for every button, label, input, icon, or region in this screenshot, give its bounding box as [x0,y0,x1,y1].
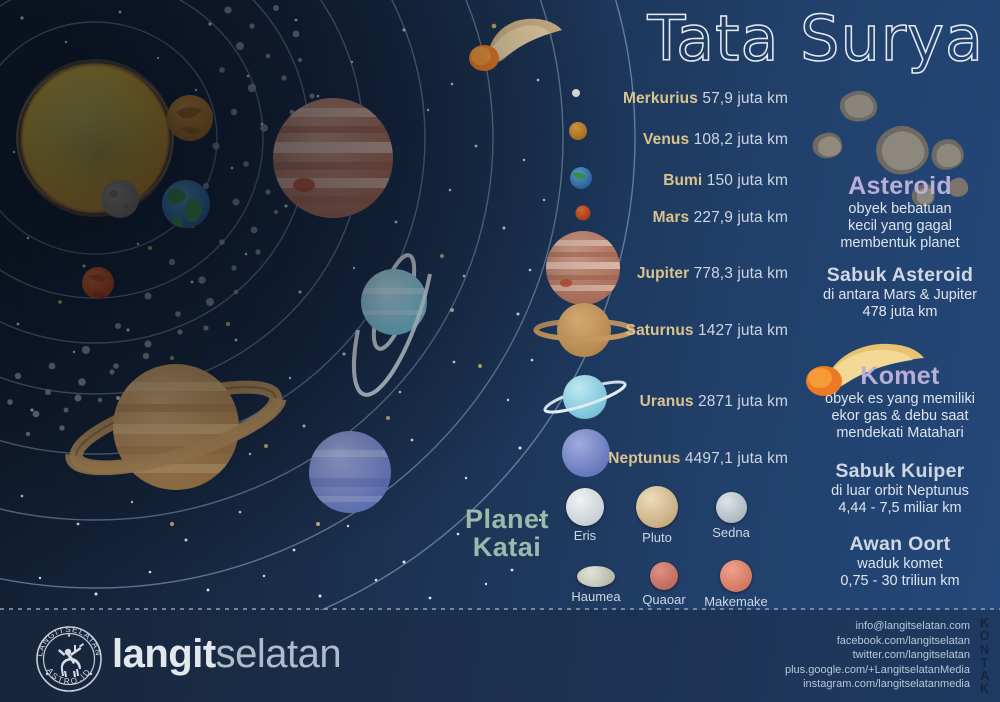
info-heading: Awan Oort [800,533,1000,556]
info-block-komet: Komet obyek es yang memiliki ekor gas & … [800,362,1000,442]
info-heading: Sabuk Asteroid [800,264,1000,287]
info-line: 0,75 - 30 triliun km [800,573,1000,590]
planet-distance: 227,9 juta km [694,209,788,226]
dwarf-planet-pluto: Pluto [622,486,692,545]
planet-name: Venus [643,131,689,148]
diagram-planet-bumi [162,180,210,228]
info-heading: Asteroid [800,172,1000,201]
dwarf-planet-label: Quaoar [632,592,696,607]
info-line: 4,44 - 7,5 miliar km [800,500,1000,517]
planet-row-mars: Mars 227,9 juta km [653,209,788,227]
dwarf-planet-sphere [650,562,678,590]
planet-row-saturnus: Saturnus 1427 juta km [626,322,788,340]
dwarf-planet-sedna: Sedna [700,492,762,540]
info-block-awan-oort: Awan Oort waduk komet 0,75 - 30 triliun … [800,533,1000,590]
info-line: obyek es yang memiliki [800,391,1000,408]
brand-bold: langit [112,632,216,676]
dwarf-planet-label: Haumea [560,589,632,604]
contact-twitter[interactable]: twitter.com/langitselatan [785,648,970,663]
planet-name: Neptunus [608,450,680,467]
planet-name: Bumi [663,172,702,189]
contact-email[interactable]: info@langitselatan.com [785,619,970,634]
planet-distance: 57,9 juta km [702,90,788,107]
info-line: kecil yang gagal [800,218,1000,235]
planet-row-uranus: Uranus 2871 juta km [640,393,788,411]
planet-row-bumi: Bumi 150 juta km [663,172,788,190]
contact-googleplus[interactable]: plus.google.com/+LangitselatanMedia [785,663,970,678]
planet-distance: 2871 juta km [698,393,788,410]
planet-name: Merkurius [623,90,698,107]
brand-light: selatan [216,632,341,676]
dwarf-planet-sphere [720,560,752,592]
planet-distance: 4497,1 juta km [685,450,788,467]
planet-name: Uranus [640,393,694,410]
info-line: waduk komet [800,556,1000,573]
planet-distance: 150 juta km [707,172,788,189]
diagram-planet-merkurius [101,180,139,218]
info-heading: Sabuk Kuiper [800,460,1000,483]
contact-facebook[interactable]: facebook.com/langitselatan [785,634,970,649]
sun [16,59,174,217]
planet-row-venus: Venus 108,2 juta km [643,131,788,149]
info-block-asteroid: Asteroid obyek bebatuan kecil yang gagal… [800,172,1000,252]
planet-name: Saturnus [626,322,694,339]
diagram-planet-venus [167,95,213,141]
dwarf-planet-eris: Eris [552,488,618,543]
dwarf-planet-sphere [636,486,678,528]
info-block-sabuk-asteroid: Sabuk Asteroid di antara Mars & Jupiter … [800,264,1000,321]
diagram-planet-uranus [354,251,433,395]
planet-distance: 778,3 juta km [694,265,788,282]
info-line: obyek bebatuan [800,201,1000,218]
dwarf-planet-quaoar: Quaoar [632,562,696,607]
dwarf-label-line1: Planet [452,505,562,533]
diagram-planet-saturnus [69,364,284,490]
info-line: ekor gas & debu saat [800,408,1000,425]
info-heading: Komet [800,362,1000,391]
planet-row-neptunus: Neptunus 4497,1 juta km [608,450,788,468]
planet-name: Mars [653,209,690,226]
dwarf-planet-sphere [566,488,604,526]
info-block-sabuk-kuiper: Sabuk Kuiper di luar orbit Neptunus 4,44… [800,460,1000,517]
comet-illustration [469,19,562,71]
planet-row-jupiter: Jupiter 778,3 juta km [637,265,788,283]
dwarf-planet-label: Eris [552,528,618,543]
planet-name: Jupiter [637,265,689,282]
dwarf-planet-label: Pluto [622,530,692,545]
dwarf-planets-label: Planet Katai [452,505,562,562]
info-line: mendekati Matahari [800,425,1000,442]
contact-instagram[interactable]: instagram.com/langitselatanmedia [785,677,970,692]
page-title: Tata Surya [566,2,986,78]
kontak-vertical-label: KONTAK [974,617,996,697]
dwarf-planet-haumea: Haumea [560,566,632,604]
info-line: membentuk planet [800,235,1000,252]
planet-row-merkurius: Merkurius 57,9 juta km [623,90,788,108]
solar-system-infographic: Tata Surya Merkurius 57,9 juta km Venus … [0,0,1000,702]
dwarf-label-line2: Katai [452,533,562,561]
dwarf-planet-label: Makemake [698,594,774,609]
planet-distance: 108,2 juta km [694,131,788,148]
dwarf-planet-makemake: Makemake [698,560,774,609]
contact-list: info@langitselatan.com facebook.com/lang… [785,619,970,692]
info-line: di luar orbit Neptunus [800,483,1000,500]
diagram-planet-mars [82,267,114,299]
info-line: 478 juta km [800,304,1000,321]
title-text: Tata Surya [647,2,984,75]
diagram-planet-jupiter [270,98,400,218]
dwarf-planet-label: Sedna [700,525,762,540]
dwarf-planet-sphere [716,492,747,523]
brand-wordmark: langitselatan [112,632,341,677]
info-line: di antara Mars & Jupiter [800,287,1000,304]
logo-bottom-text: ASTRO.ID [45,666,93,686]
langitselatan-logo: LANGITSELATAN ASTRO.ID [30,620,108,698]
centaur-archer-glyph [58,643,84,677]
solar-system-diagram [0,0,1000,702]
planet-distance: 1427 juta km [698,322,788,339]
dwarf-planet-sphere [577,566,615,587]
diagram-planet-neptunus [306,431,398,513]
footer-divider [0,608,1000,610]
